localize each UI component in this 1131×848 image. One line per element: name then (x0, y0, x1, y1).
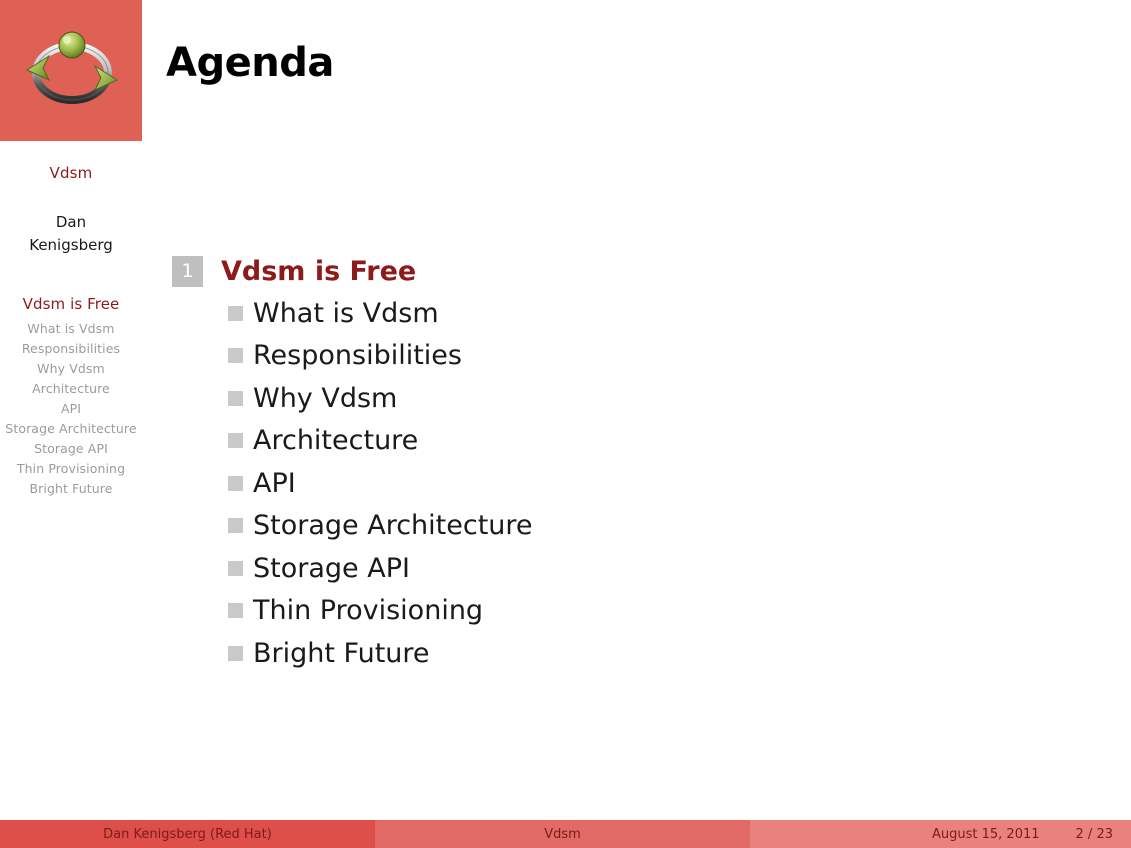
bullet-square-icon (228, 561, 243, 576)
sidebar-item-responsibilities[interactable]: Responsibilities (0, 339, 142, 359)
footer-title: Vdsm (375, 820, 750, 848)
toc-section[interactable]: 1 Vdsm is Free (172, 250, 872, 292)
toc-subsection-label: Why Vdsm (253, 383, 397, 414)
footer-date: August 15, 2011 (932, 827, 1040, 842)
toc-subsection-label: Storage Architecture (253, 510, 533, 541)
bullet-square-icon (228, 433, 243, 448)
toc-subsection-label: Storage API (253, 553, 410, 584)
toc-subsection-label: Bright Future (253, 638, 430, 669)
toc-subsection-label: Thin Provisioning (253, 595, 483, 626)
toc-subsection[interactable]: Bright Future (172, 632, 872, 675)
sidebar: Vdsm Dan Kenigsberg Vdsm is Free What is… (0, 0, 142, 820)
toc-subsection-label: API (253, 468, 296, 499)
toc-subsection[interactable]: API (172, 462, 872, 505)
bullet-square-icon (228, 603, 243, 618)
page-title: Agenda (166, 40, 334, 86)
sidebar-item-thin-provisioning[interactable]: Thin Provisioning (0, 459, 142, 479)
slide-body: Agenda 1 Vdsm is Free What is Vdsm Respo… (142, 0, 1131, 820)
sidebar-item-bright-future[interactable]: Bright Future (0, 479, 142, 499)
sidebar-author-line-1: Dan (0, 211, 142, 234)
sidebar-item-storage-architecture[interactable]: Storage Architecture (0, 419, 142, 439)
footer-meta: August 15, 2011 2 / 23 (750, 820, 1131, 848)
toc-subsection[interactable]: Responsibilities (172, 335, 872, 378)
sidebar-author-line-2: Kenigsberg (0, 234, 142, 257)
slide-footer: Dan Kenigsberg (Red Hat) Vdsm August 15,… (0, 820, 1131, 848)
toc-subsection[interactable]: Storage Architecture (172, 505, 872, 548)
toc-subsection[interactable]: Thin Provisioning (172, 590, 872, 633)
sidebar-item-vdsm-is-free[interactable]: Vdsm is Free (0, 292, 142, 317)
bullet-square-icon (228, 646, 243, 661)
bullet-square-icon (228, 306, 243, 321)
sidebar-item-what-is-vdsm[interactable]: What is Vdsm (0, 319, 142, 339)
toc-subsection[interactable]: Why Vdsm (172, 377, 872, 420)
bullet-square-icon (228, 348, 243, 363)
toc-subsection[interactable]: What is Vdsm (172, 292, 872, 335)
toc-subsection-label: Responsibilities (253, 340, 462, 371)
section-number-badge: 1 (172, 256, 203, 287)
sidebar-item-architecture[interactable]: Architecture (0, 379, 142, 399)
sidebar-item-api[interactable]: API (0, 399, 142, 419)
toc-subsection-label: Architecture (253, 425, 418, 456)
footer-page-number: 2 / 23 (1076, 827, 1113, 842)
bullet-square-icon (228, 391, 243, 406)
vdsm-circular-arrows-logo-icon (19, 18, 125, 122)
sidebar-presentation-title[interactable]: Vdsm (0, 164, 142, 182)
sidebar-item-why-vdsm[interactable]: Why Vdsm (0, 359, 142, 379)
logo-block (0, 0, 142, 141)
footer-author: Dan Kenigsberg (Red Hat) (0, 820, 375, 848)
toc-subsection-label: What is Vdsm (253, 298, 439, 329)
sidebar-author: Dan Kenigsberg (0, 211, 142, 257)
sidebar-item-storage-api[interactable]: Storage API (0, 439, 142, 459)
bullet-square-icon (228, 476, 243, 491)
toc-subsection[interactable]: Storage API (172, 547, 872, 590)
section-label: Vdsm is Free (221, 256, 416, 287)
sidebar-nav: Vdsm is Free What is Vdsm Responsibiliti… (0, 292, 142, 499)
table-of-contents: 1 Vdsm is Free What is Vdsm Responsibili… (172, 250, 872, 675)
bullet-square-icon (228, 518, 243, 533)
toc-subsection[interactable]: Architecture (172, 420, 872, 463)
